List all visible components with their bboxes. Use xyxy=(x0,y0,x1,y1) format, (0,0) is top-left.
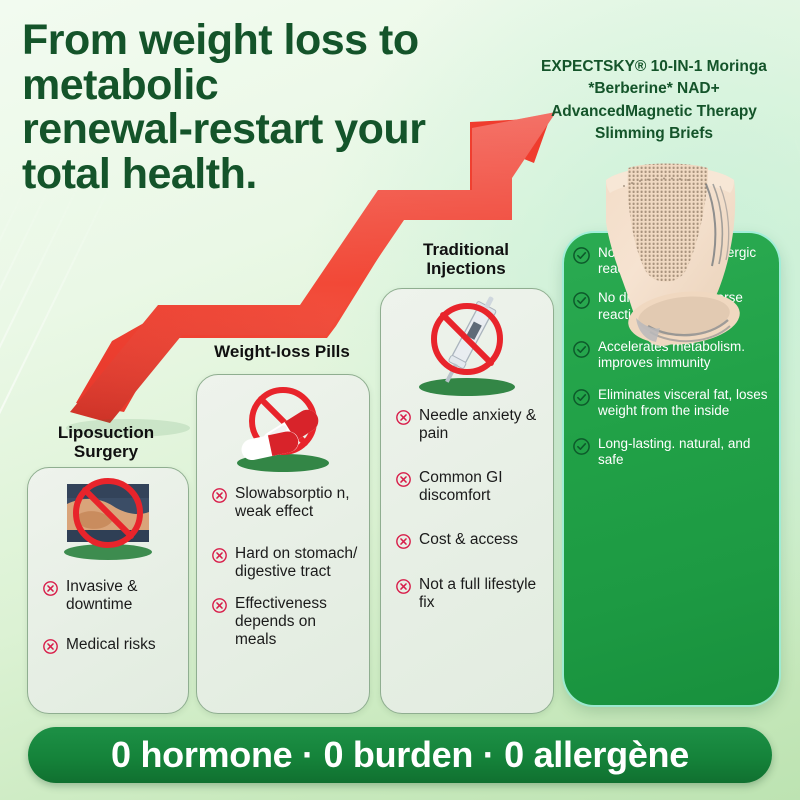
card-liposuction-surgery: Invasive & downtime Medical risks xyxy=(27,467,189,714)
card-weight-loss-pills: Slowabsorptio n, weak effect Hard on sto… xyxy=(196,374,370,714)
headline: From weight loss to metabolic renewal-re… xyxy=(22,18,512,197)
negative-text: Medical risks xyxy=(66,636,178,654)
negative-item: Not a full lifestyle fix xyxy=(395,576,543,612)
check-circle-icon xyxy=(572,291,591,310)
negative-item: Needle anxiety & pain xyxy=(395,407,543,443)
x-circle-icon xyxy=(395,578,412,595)
x-circle-icon xyxy=(211,547,228,564)
bottom-claim-banner: 0 hormone · 0 burden · 0 allergène xyxy=(28,727,772,783)
benefit-text: Accelerates metabolism. improves immunit… xyxy=(598,339,773,371)
benefit-item: Long-lasting. natural, and safe xyxy=(572,436,773,468)
benefit-text: No diarrhea, no adverse reactions xyxy=(598,290,773,322)
x-circle-icon xyxy=(395,471,412,488)
bottom-claim-text: 0 hormone · 0 burden · 0 allergène xyxy=(111,734,689,776)
negative-item: Invasive & downtime xyxy=(42,578,178,614)
no-surgery-icon xyxy=(49,474,167,562)
negative-item: Hard on stomach/ digestive tract xyxy=(211,545,359,581)
benefit-item: No side effects, no allergic reactions xyxy=(572,245,773,277)
negative-text: Invasive & downtime xyxy=(66,578,178,614)
negative-text: Hard on stomach/ digestive tract xyxy=(235,545,359,581)
negative-item: Slowabsorptio n, weak effect xyxy=(211,485,359,521)
negative-text: Slowabsorptio n, weak effect xyxy=(235,485,359,521)
card-title-line: Traditional xyxy=(380,240,552,259)
negatives-list-injections: Needle anxiety & pain Common GI discomfo… xyxy=(395,407,543,626)
product-title-line-3: AdvancedMagnetic Therapy xyxy=(515,101,793,123)
negative-text: Effectiveness depends on meals xyxy=(235,595,359,649)
card-title-pills: Weight-loss Pills xyxy=(193,342,371,361)
benefit-item: Accelerates metabolism. improves immunit… xyxy=(572,339,773,371)
x-circle-icon xyxy=(395,409,412,426)
product-title-line-1: EXPECTSKY® 10-IN-1 Moringa xyxy=(515,56,793,78)
card-title-line: Weight-loss Pills xyxy=(193,342,371,361)
x-circle-icon xyxy=(211,597,228,614)
x-circle-icon xyxy=(42,638,59,655)
product-title-line-4: Slimming Briefs xyxy=(515,123,793,145)
benefit-item: Eliminates visceral fat, loses weight fr… xyxy=(572,387,773,419)
headline-line-4: total health. xyxy=(22,152,512,197)
benefits-panel: No side effects, no allergic reactions N… xyxy=(564,233,779,705)
check-circle-icon xyxy=(572,388,591,407)
negatives-list-pills: Slowabsorptio n, weak effect Hard on sto… xyxy=(211,485,359,663)
x-circle-icon xyxy=(395,533,412,550)
negative-text: Cost & access xyxy=(419,531,543,549)
no-pills-icon xyxy=(219,379,347,475)
card-title-line: Surgery xyxy=(27,442,185,461)
benefit-item: No diarrhea, no adverse reactions xyxy=(572,290,773,322)
check-circle-icon xyxy=(572,437,591,456)
no-injection-icon xyxy=(402,295,532,399)
headline-line-2: metabolic xyxy=(22,63,512,108)
negative-text: Needle anxiety & pain xyxy=(419,407,543,443)
negative-item: Effectiveness depends on meals xyxy=(211,595,359,649)
product-title-line-2: *Berberine* NAD+ xyxy=(515,78,793,100)
negative-item: Cost & access xyxy=(395,531,543,550)
headline-line-1: From weight loss to xyxy=(22,18,512,63)
negative-item: Medical risks xyxy=(42,636,178,655)
x-circle-icon xyxy=(211,487,228,504)
x-circle-icon xyxy=(42,580,59,597)
check-circle-icon xyxy=(572,340,591,359)
negatives-list-liposuction: Invasive & downtime Medical risks xyxy=(42,578,178,669)
product-title: EXPECTSKY® 10-IN-1 Moringa *Berberine* N… xyxy=(515,56,793,146)
benefit-text: Long-lasting. natural, and safe xyxy=(598,436,773,468)
check-circle-icon xyxy=(572,246,591,265)
benefit-text: No side effects, no allergic reactions xyxy=(598,245,773,277)
card-title-line: Injections xyxy=(380,259,552,278)
card-title-liposuction: Liposuction Surgery xyxy=(27,423,185,461)
card-traditional-injections: Needle anxiety & pain Common GI discomfo… xyxy=(380,288,554,714)
promo-poster: From weight loss to metabolic renewal-re… xyxy=(0,0,800,800)
negative-item: Common GI discomfort xyxy=(395,469,543,505)
card-title-injections: Traditional Injections xyxy=(380,240,552,278)
negative-text: Not a full lifestyle fix xyxy=(419,576,543,612)
benefits-list: No side effects, no allergic reactions N… xyxy=(572,245,773,481)
benefit-text: Eliminates visceral fat, loses weight fr… xyxy=(598,387,773,419)
negative-text: Common GI discomfort xyxy=(419,469,543,505)
card-title-line: Liposuction xyxy=(27,423,185,442)
headline-line-3: renewal-restart your xyxy=(22,107,512,152)
